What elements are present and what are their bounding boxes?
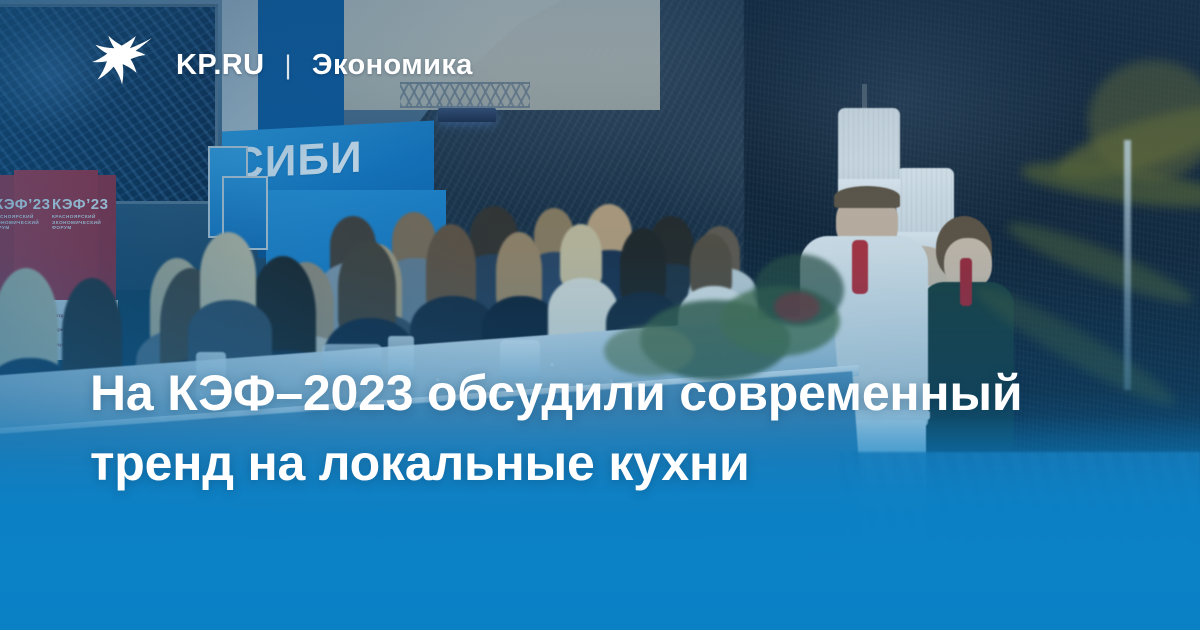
brand-divider: | — [285, 50, 292, 81]
article-share-card: КЭФ’23 КРАСНОЯРСКИЙ ЭКОНОМИЧЕСКИЙ ФОРУМ … — [0, 0, 1200, 630]
kp-swallow-bird-logo-icon[interactable] — [92, 36, 154, 94]
brand-lockup: KP.RU | Экономика — [176, 49, 473, 82]
section-name[interactable]: Экономика — [312, 49, 473, 82]
brand-name[interactable]: KP.RU — [176, 49, 265, 82]
article-headline: На КЭФ–2023 обсудили современный тренд н… — [90, 358, 1080, 498]
card-header: KP.RU | Экономика — [0, 0, 1200, 130]
